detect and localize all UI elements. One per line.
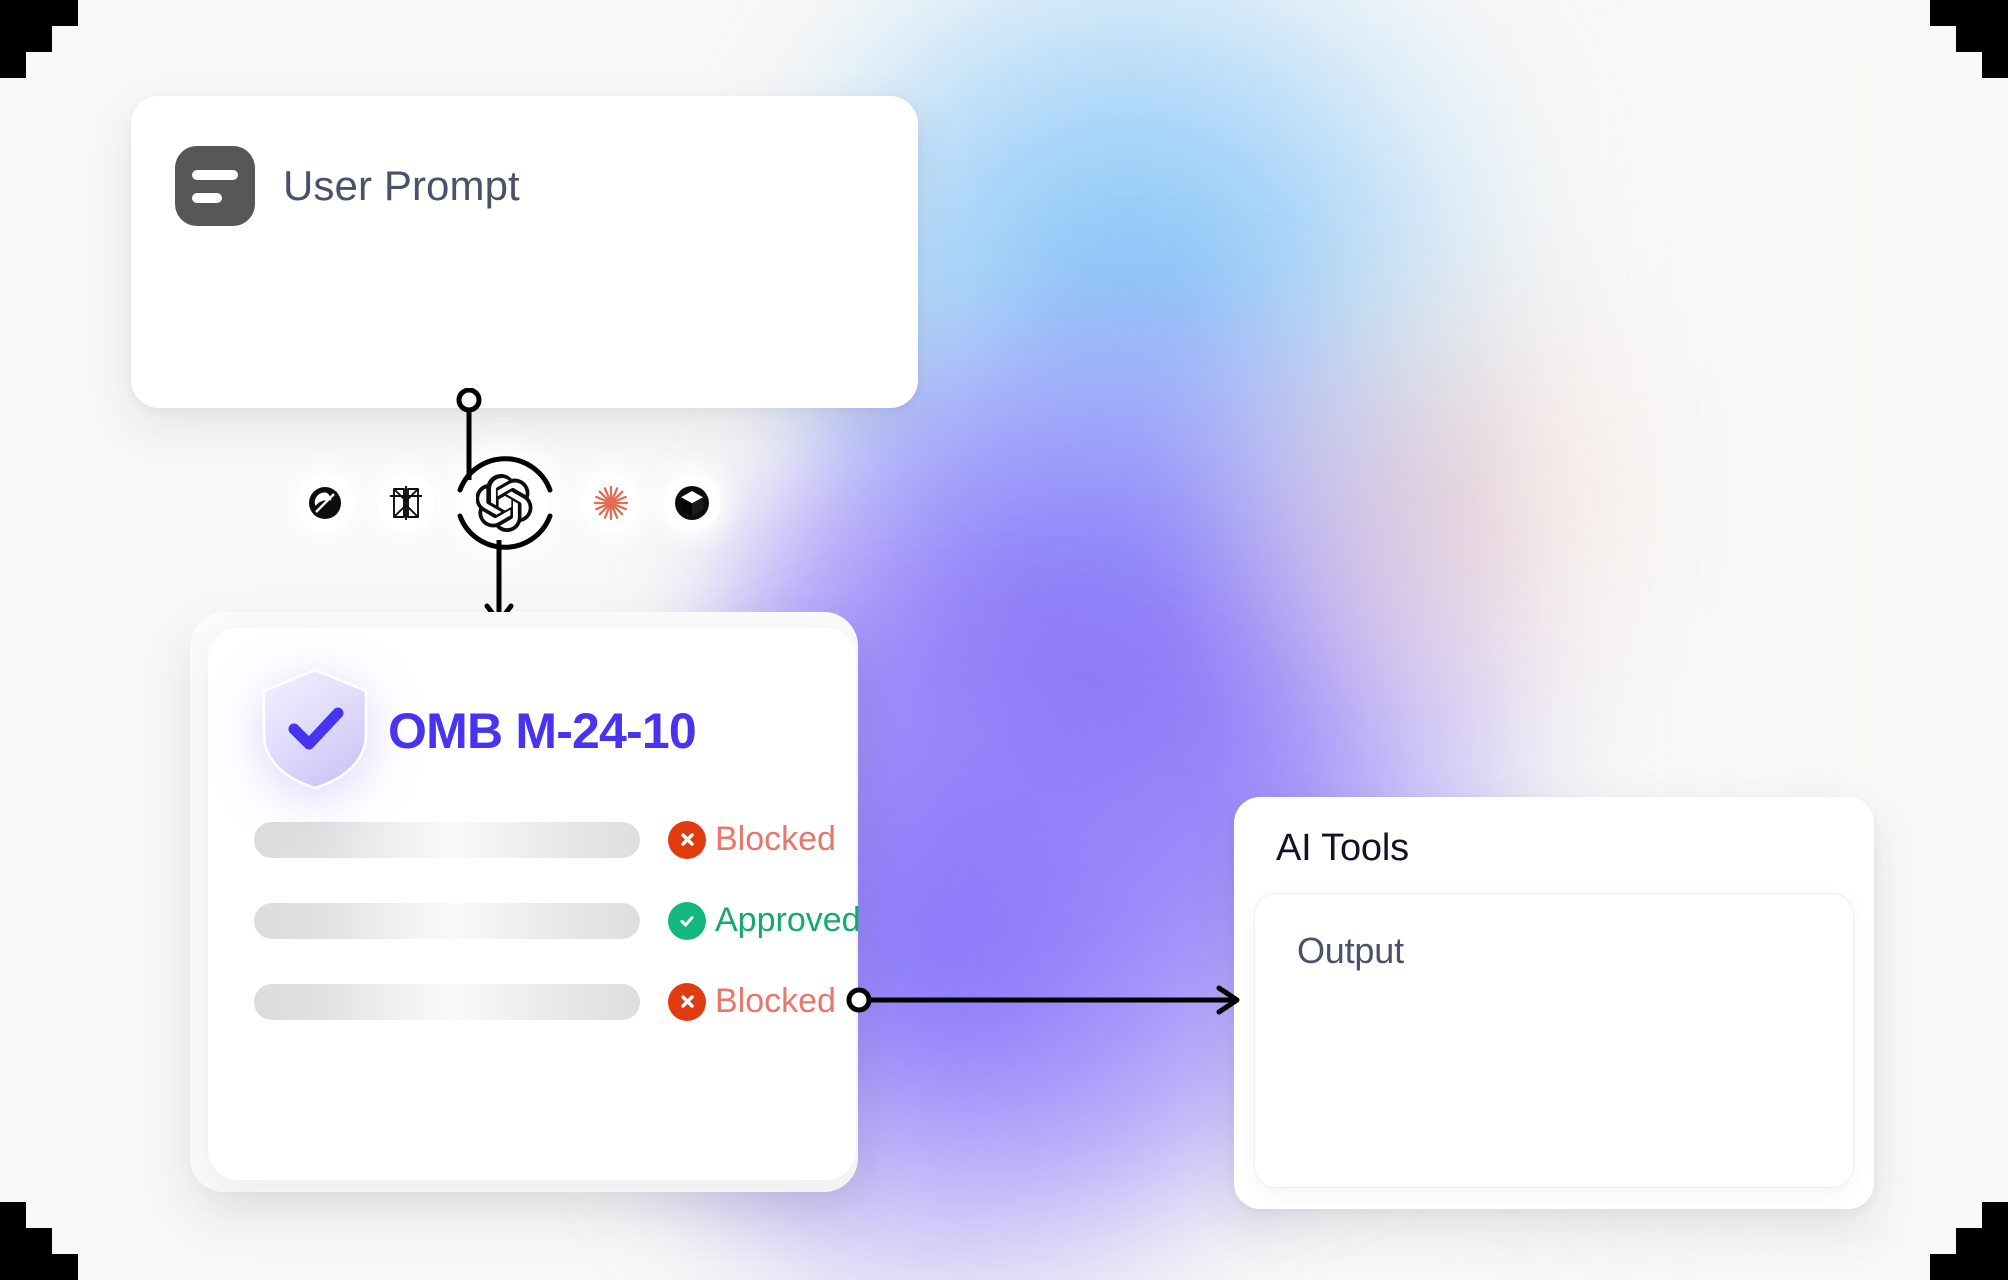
policy-row-blocked-1: Blocked (254, 820, 856, 859)
policy-row-status: Blocked (668, 820, 836, 859)
policy-row-status: Blocked (668, 982, 836, 1021)
policy-row-status-label: Approved (715, 901, 861, 940)
prompt-to-model-connector (449, 388, 489, 480)
output-title: Output (1255, 894, 1853, 972)
policy-row-placeholder-bar (254, 984, 640, 1020)
shield-check-icon (254, 662, 376, 794)
policy-row-approved: Approved (254, 901, 856, 940)
policy-card-header: OMB M-24-10 (208, 628, 856, 794)
circle-x-icon (668, 983, 706, 1021)
diagram-stage: User Prompt (0, 0, 2008, 1280)
document-lines-icon (175, 146, 255, 226)
model-chip-geometric[interactable] (377, 474, 435, 532)
geometric-mark-icon (388, 484, 424, 522)
background-gradient-rose (1180, 230, 1740, 750)
policy-row-placeholder-bar (254, 822, 640, 858)
output-panel: Output (1254, 893, 1854, 1188)
policy-row-status-label: Blocked (715, 820, 836, 859)
model-chip-perplexity[interactable] (296, 474, 354, 532)
policy-card: OMB M-24-10 Blocked (208, 628, 856, 1180)
policy-row-list: Blocked Approved (208, 820, 856, 1021)
model-chip-anthropic[interactable] (582, 474, 640, 532)
perplexity-icon (307, 485, 343, 521)
policy-row-status: Approved (668, 901, 861, 940)
anthropic-starburst-icon (591, 483, 631, 523)
policy-row-blocked-2: Blocked (254, 982, 856, 1021)
policy-row-placeholder-bar (254, 903, 640, 939)
model-selector-row[interactable] (296, 463, 756, 543)
circle-x-icon (668, 821, 706, 859)
cube-icon (672, 483, 712, 523)
user-prompt-card: User Prompt (131, 96, 918, 408)
ai-tools-title: AI Tools (1264, 827, 1844, 870)
circle-check-icon (668, 902, 706, 940)
user-prompt-title: User Prompt (283, 162, 520, 210)
model-chip-cube[interactable] (663, 474, 721, 532)
openai-icon (476, 474, 534, 532)
policy-row-status-label: Blocked (715, 982, 836, 1021)
policy-title: OMB M-24-10 (388, 702, 696, 760)
approved-to-ai-tools-connector (845, 980, 1245, 1020)
user-prompt-header: User Prompt (175, 146, 874, 226)
